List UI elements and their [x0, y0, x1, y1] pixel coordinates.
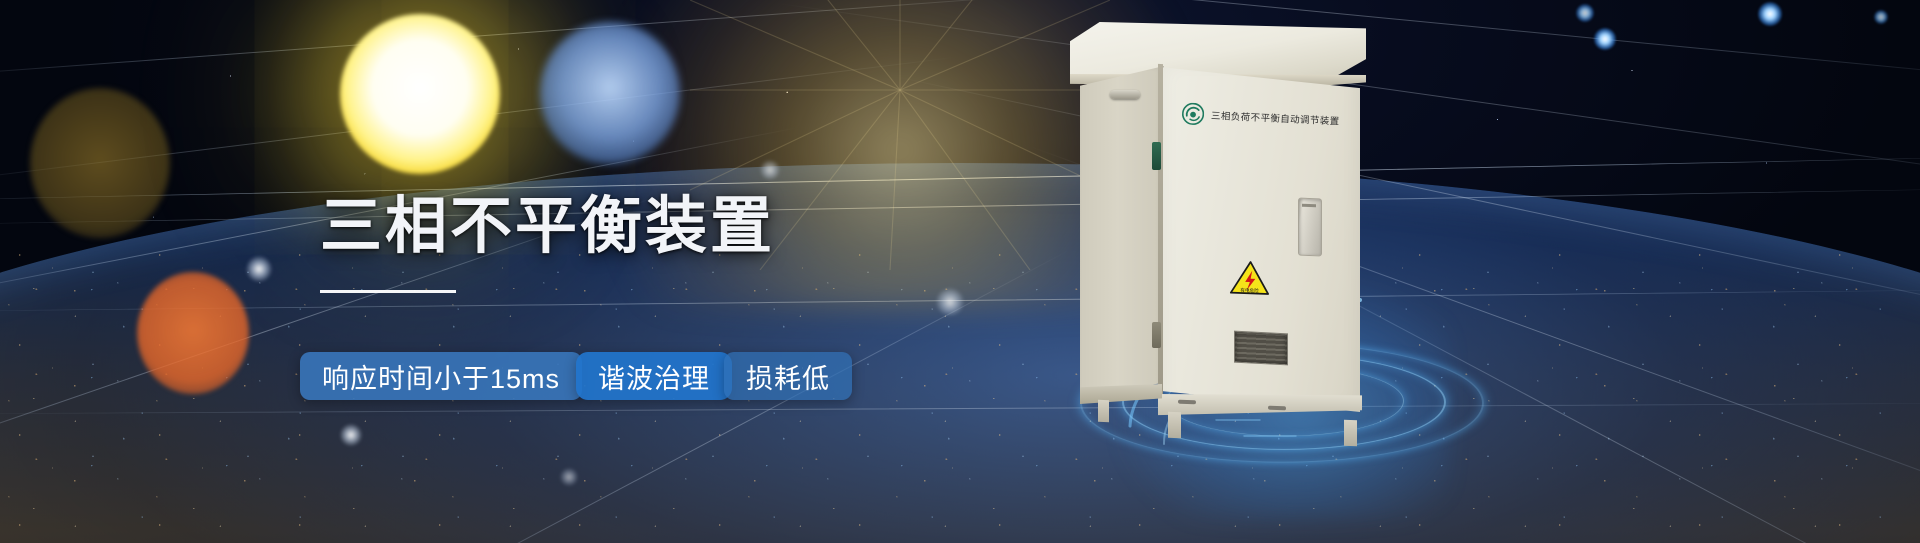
lens-sparkle	[340, 424, 362, 446]
cabinet-hinge-top	[1152, 142, 1161, 170]
feature-pill-response-time[interactable]: 响应时间小于15ms	[300, 352, 582, 400]
blue-sparkle	[1758, 2, 1782, 26]
cabinet-door-seam	[1158, 64, 1163, 412]
blue-sparkle	[1594, 28, 1616, 50]
cabinet-leg	[1344, 420, 1357, 446]
lens-sparkle	[760, 160, 780, 180]
lens-sparkle	[936, 288, 964, 316]
feature-pill-low-loss[interactable]: 损耗低	[724, 352, 852, 400]
cabinet-base-front	[1158, 394, 1362, 416]
cabinet-vent-louver	[1234, 331, 1288, 366]
cabinet-base-slot	[1268, 406, 1286, 411]
headline-block: 三相不平衡装置	[320, 196, 775, 293]
title-divider	[320, 290, 456, 293]
cabinet-leg	[1098, 400, 1109, 422]
green-circle-leaf-logo-icon	[1182, 102, 1205, 125]
blue-sparkle	[1576, 4, 1594, 22]
lens-sparkle	[246, 256, 272, 282]
cabinet-hinge-bottom	[1152, 322, 1161, 348]
cabinet-brand-label: 三相负荷不平衡自动调节装置	[1211, 108, 1340, 128]
cabinet-base-slot	[1178, 400, 1196, 405]
blue-sparkle	[1874, 10, 1888, 24]
cabinet-handle-bar	[1302, 204, 1316, 207]
feature-pill-harmonic[interactable]: 谐波治理	[576, 352, 732, 400]
high-voltage-triangle-icon: 有电危险	[1229, 259, 1270, 296]
blue-bokeh-orb	[540, 22, 680, 164]
cabinet-base-side	[1080, 384, 1162, 404]
white-bokeh-orb	[340, 14, 500, 174]
electrical-cabinet: 三相负荷不平衡自动调节装置 有电危险	[1052, 22, 1382, 432]
orange-bokeh-orb	[137, 272, 249, 394]
cabinet-leg	[1168, 412, 1181, 438]
page-title: 三相不平衡装置	[320, 196, 775, 258]
hero-banner: 三相不平衡装置 响应时间小于15ms 谐波治理 损耗低	[0, 0, 1920, 543]
feature-pill-list: 响应时间小于15ms 谐波治理 损耗低	[300, 352, 852, 400]
lens-sparkle	[560, 468, 578, 486]
cabinet-roof-latch	[1110, 90, 1140, 99]
olive-bokeh-orb	[30, 88, 170, 238]
latitude-line	[0, 402, 1920, 414]
